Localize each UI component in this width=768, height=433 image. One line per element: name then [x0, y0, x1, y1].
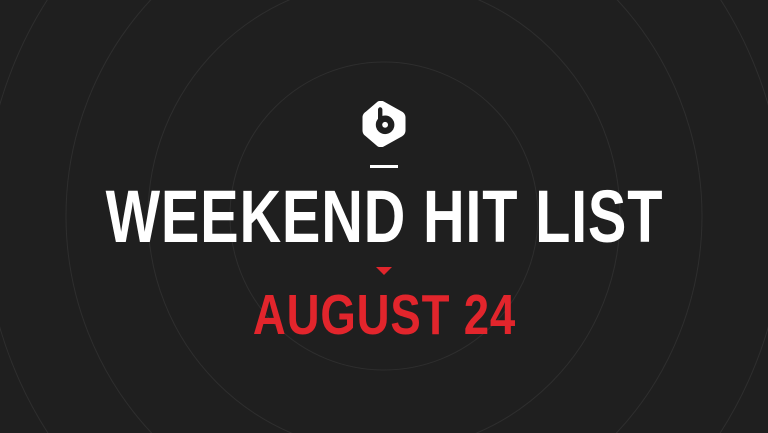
horizontal-rule-divider [370, 165, 398, 168]
beats-hexagon-logo-icon [362, 101, 406, 147]
date-label: AUGUST 24 [252, 287, 515, 344]
triangle-down-icon [376, 267, 392, 275]
hero-content-stack: WEEKEND HIT LIST AUGUST 24 [0, 0, 768, 433]
page-title: WEEKEND HIT LIST [105, 180, 663, 254]
promo-graphic-canvas: WEEKEND HIT LIST AUGUST 24 [0, 0, 768, 433]
